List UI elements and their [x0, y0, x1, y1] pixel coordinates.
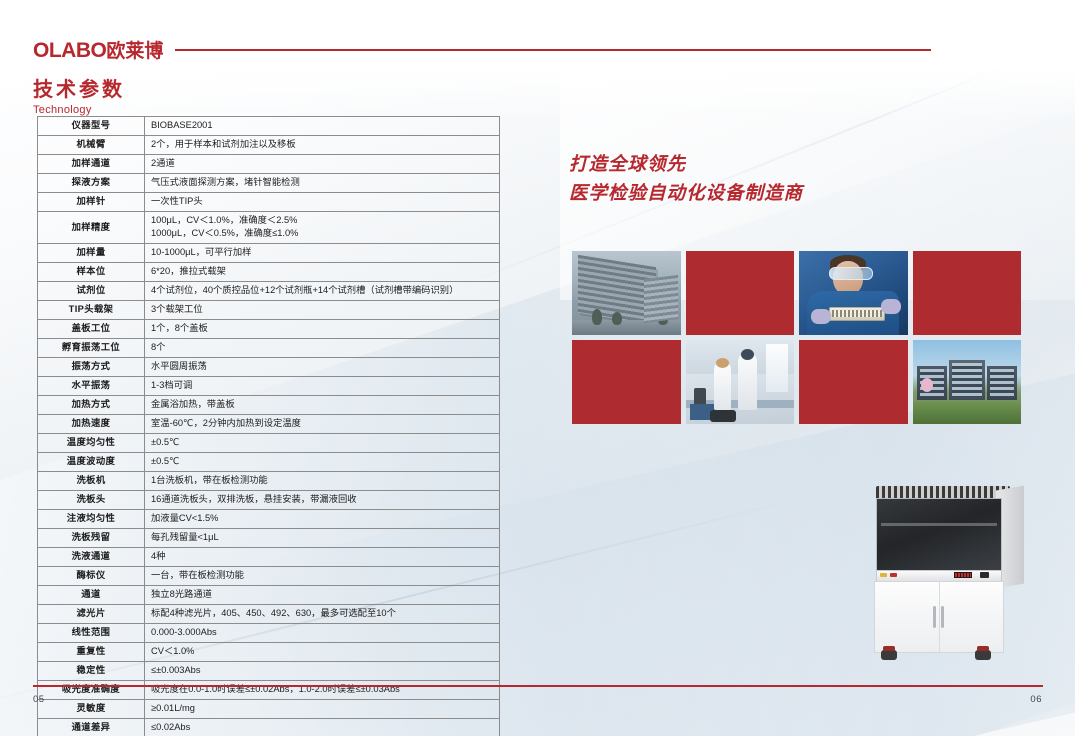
spec-row-label: 样本位 [38, 262, 145, 281]
spec-row-label: 加样通道 [38, 155, 145, 174]
logo-latin-text: OLABO [33, 39, 106, 62]
spec-row: 加样精度100μL，CV＜1.0%，准确度＜2.5%1000μL，CV＜0.5%… [38, 212, 500, 244]
door-handle-right [941, 606, 944, 628]
spec-row: 稳定性≤±0.003Abs [38, 661, 500, 680]
spec-row-value: 标配4种滤光片，405、450、492、630，最多可选配至10个 [145, 604, 500, 623]
spec-row: 温度均匀性±0.5℃ [38, 433, 500, 452]
spec-row-value: 一台，带在板检测功能 [145, 566, 500, 585]
spec-row: 机械臂2个，用于样本和试剂加注以及移板 [38, 136, 500, 155]
spec-value-line: 室温-60℃，2分钟内加热到设定温度 [151, 417, 499, 430]
brand-header: OLABO欧莱博 [33, 36, 1043, 63]
spec-row-label: 加样精度 [38, 212, 145, 244]
spec-row-value: 1个，8个盖板 [145, 319, 500, 338]
spec-value-line: 1-3档可调 [151, 379, 499, 392]
tree-icon [612, 312, 622, 325]
spec-value-line: ±0.5℃ [151, 455, 499, 468]
spec-row: 洗板头16通道洗板头，双排洗板，悬挂安装，带漏液回收 [38, 490, 500, 509]
spec-row-label: 重复性 [38, 642, 145, 661]
spec-row: 加样通道2通道 [38, 155, 500, 174]
spec-row-value: 吸光度在0.0-1.0时误差≤±0.02Abs，1.0-2.0时误差≤±0.03… [145, 680, 500, 699]
spec-value-line: 2通道 [151, 157, 499, 170]
spec-row: 孵育振荡工位8个 [38, 338, 500, 357]
spec-row-value: 加液量CV<1.5% [145, 509, 500, 528]
technician-seated [714, 362, 731, 410]
spec-row-label: 洗板头 [38, 490, 145, 509]
spec-row-label: TIP头载架 [38, 300, 145, 319]
power-switch [980, 572, 989, 578]
spec-row: 加样针一次性TIP头 [38, 193, 500, 212]
headline-line-2: 医学检验自动化设备制造商 [569, 179, 803, 208]
blossom-tree-icon [921, 378, 933, 392]
spec-row-value: 8个 [145, 338, 500, 357]
lab-window [766, 344, 788, 392]
spec-row-value: ±0.5℃ [145, 452, 500, 471]
headline-line-1: 打造全球领先 [569, 150, 803, 179]
spec-value-line: 金属浴加热，带盖板 [151, 398, 499, 411]
spec-row: 洗液通道4种 [38, 547, 500, 566]
spec-row-label: 通道 [38, 585, 145, 604]
indicator-lamp-red [890, 573, 897, 577]
spec-row-value: 每孔残留量<1μL [145, 528, 500, 547]
spec-row-value: 气压式液面探测方案，堵针智能检测 [145, 174, 500, 193]
spec-table: 仪器型号BIOBASE2001机械臂2个，用于样本和试剂加注以及移板加样通道2通… [37, 116, 500, 736]
technician-standing [738, 354, 757, 410]
marketing-headline: 打造全球领先 医学检验自动化设备制造商 [569, 150, 803, 207]
spec-value-line: 3个载架工位 [151, 303, 499, 316]
spec-value-line: 一次性TIP头 [151, 195, 499, 208]
spec-value-line: 1个，8个盖板 [151, 322, 499, 335]
spec-row-label: 加样量 [38, 243, 145, 262]
spec-row-label: 线性范围 [38, 623, 145, 642]
page-subtitle: Technology [33, 104, 125, 116]
spec-row-label: 通道差异 [38, 718, 145, 736]
cabinet-base [874, 581, 1004, 653]
glove-shape [811, 309, 831, 324]
color-block-red-2 [913, 251, 1022, 335]
brochure-page: OLABO欧莱博 技术参数 Technology 仪器型号BIOBASE2001… [0, 0, 1075, 736]
footer-rule [33, 685, 1043, 687]
spec-row-value: 6*20，推拉式载架 [145, 262, 500, 281]
spec-row: 探液方案气压式液面探测方案，堵针智能检测 [38, 174, 500, 193]
spec-row-label: 盖板工位 [38, 319, 145, 338]
photo-two-lab-technicians [686, 340, 795, 424]
spec-row-label: 加样针 [38, 193, 145, 212]
tree-icon [592, 309, 602, 325]
technician-head [741, 349, 754, 360]
spec-value-line: 一台，带在板检测功能 [151, 569, 499, 582]
spec-row: 酶标仪一台，带在板检测功能 [38, 566, 500, 585]
campus-center-block [949, 360, 985, 400]
color-block-red-3 [572, 340, 681, 424]
spec-row-label: 振荡方式 [38, 357, 145, 376]
spec-table-container: 仪器型号BIOBASE2001机械臂2个，用于样本和试剂加注以及移板加样通道2通… [37, 116, 500, 736]
spec-row-value: 2个，用于样本和试剂加注以及移板 [145, 136, 500, 155]
spec-row: 样本位6*20，推拉式载架 [38, 262, 500, 281]
caster-wheel [881, 650, 897, 660]
spec-row: 通道独立8光路通道 [38, 585, 500, 604]
spec-row-value: 3个载架工位 [145, 300, 500, 319]
photo-modern-office-building [572, 251, 681, 335]
spec-row-value: 100μL，CV＜1.0%，准确度＜2.5%1000μL，CV＜0.5%，准确度… [145, 212, 500, 244]
spec-row: 盖板工位1个，8个盖板 [38, 319, 500, 338]
spec-row-value: ≤±0.003Abs [145, 661, 500, 680]
spec-row-value: ≥0.01L/mg [145, 699, 500, 718]
spec-row: 吸光度准确度吸光度在0.0-1.0时误差≤±0.02Abs，1.0-2.0时误差… [38, 680, 500, 699]
spec-value-line: ≤0.02Abs [151, 721, 499, 734]
section-title: 技术参数 Technology [33, 78, 125, 116]
spec-value-line: 1台洗板机，带在板检测功能 [151, 474, 499, 487]
spec-row-value: 金属浴加热，带盖板 [145, 395, 500, 414]
spec-row: 洗板机1台洗板机，带在板检测功能 [38, 471, 500, 490]
spec-value-line: ≤±0.003Abs [151, 664, 499, 677]
spec-value-line: BIOBASE2001 [151, 119, 499, 132]
spec-value-line: 2个，用于样本和试剂加注以及移板 [151, 138, 499, 151]
spec-row-value: 16通道洗板头，双排洗板，悬挂安装，带漏液回收 [145, 490, 500, 509]
window-grid [952, 363, 982, 397]
spec-value-line: 气压式液面探测方案，堵针智能检测 [151, 176, 499, 189]
spec-row: 洗板残留每孔残留量<1μL [38, 528, 500, 547]
spec-row-label: 灵敏度 [38, 699, 145, 718]
spec-value-line: ≥0.01L/mg [151, 702, 499, 715]
indicator-lamp-amber [880, 573, 887, 577]
spec-value-line: 独立8光路通道 [151, 588, 499, 601]
color-block-red-1 [686, 251, 795, 335]
spec-row-label: 滤光片 [38, 604, 145, 623]
door-handle-left [933, 606, 936, 628]
spec-row-label: 孵育振荡工位 [38, 338, 145, 357]
glove-shape [881, 299, 901, 314]
olabo-logo: OLABO欧莱博 [33, 36, 163, 63]
spec-value-line: 1000μL，CV＜0.5%，准确度≤1.0% [151, 227, 499, 240]
page-number-left: 05 [33, 694, 45, 705]
spec-row-label: 温度波动度 [38, 452, 145, 471]
spec-row-value: 2通道 [145, 155, 500, 174]
color-block-red-4 [799, 340, 908, 424]
safety-goggles-icon [829, 267, 873, 280]
spec-row-value: 室温-60℃，2分钟内加热到设定温度 [145, 414, 500, 433]
spec-value-line: 水平圆周振荡 [151, 360, 499, 373]
spec-row-label: 吸光度准确度 [38, 680, 145, 699]
spec-row: 滤光片标配4种滤光片，405、450、492、630，最多可选配至10个 [38, 604, 500, 623]
spec-value-line: 每孔残留量<1μL [151, 531, 499, 544]
logo-chinese-text: 欧莱博 [106, 41, 163, 62]
spec-row: 线性范围0.000-3.000Abs [38, 623, 500, 642]
product-photo-automated-elisa-workstation-cabinet [858, 478, 1058, 674]
spec-row: 加热方式金属浴加热，带盖板 [38, 395, 500, 414]
spec-value-line: 16通道洗板头，双排洗板，悬挂安装，带漏液回收 [151, 493, 499, 506]
spec-row-value: ±0.5℃ [145, 433, 500, 452]
spec-row-label: 洗液通道 [38, 547, 145, 566]
microscope-icon [694, 388, 706, 404]
spec-row-value: 10-1000μL，可平行加样 [145, 243, 500, 262]
photo-scientist-with-pipette-tips [799, 251, 908, 335]
spec-row-value: 一次性TIP头 [145, 193, 500, 212]
spec-value-line: 6*20，推拉式载架 [151, 265, 499, 278]
spec-row-label: 探液方案 [38, 174, 145, 193]
window-grid [990, 369, 1014, 397]
spec-row: 通道差异≤0.02Abs [38, 718, 500, 736]
spec-row-value: CV＜1.0% [145, 642, 500, 661]
page-number-right: 06 [1030, 694, 1042, 705]
spec-value-line: 标配4种滤光片，405、450、492、630，最多可选配至10个 [151, 607, 499, 620]
photo-grid [572, 251, 1030, 424]
cabinet-door-left [875, 582, 940, 652]
spec-row-value: BIOBASE2001 [145, 117, 500, 136]
lab-chair [710, 410, 736, 422]
photo-campus-headquarters-building [913, 340, 1022, 424]
spec-row-label: 稳定性 [38, 661, 145, 680]
spec-row-label: 酶标仪 [38, 566, 145, 585]
spec-row: 仪器型号BIOBASE2001 [38, 117, 500, 136]
spec-row-value: 1台洗板机，带在板检测功能 [145, 471, 500, 490]
spec-row-label: 试剂位 [38, 281, 145, 300]
spec-row-value: 4种 [145, 547, 500, 566]
spec-row-value: ≤0.02Abs [145, 718, 500, 736]
spec-row-value: 独立8光路通道 [145, 585, 500, 604]
spec-row: 加热速度室温-60℃，2分钟内加热到设定温度 [38, 414, 500, 433]
spec-row-label: 洗板机 [38, 471, 145, 490]
spec-row: 重复性CV＜1.0% [38, 642, 500, 661]
spec-row-value: 4个试剂位，40个质控品位+12个试剂瓶+14个试剂槽（试剂槽带编码识别） [145, 281, 500, 300]
spec-row-label: 水平振荡 [38, 376, 145, 395]
spec-value-line: 加液量CV<1.5% [151, 512, 499, 525]
spec-value-line: 10-1000μL，可平行加样 [151, 246, 499, 259]
spec-row: TIP头载架3个载架工位 [38, 300, 500, 319]
pipette-tip-rack [829, 307, 885, 321]
glass-sash-window [876, 498, 1002, 572]
spec-row: 注液均匀性加液量CV<1.5% [38, 509, 500, 528]
spec-row-label: 机械臂 [38, 136, 145, 155]
spec-row: 灵敏度≥0.01L/mg [38, 699, 500, 718]
spec-value-line: 100μL，CV＜1.0%，准确度＜2.5% [151, 214, 499, 227]
technician-head [716, 358, 729, 368]
spec-row-value: 0.000-3.000Abs [145, 623, 500, 642]
lawn [913, 402, 1022, 424]
spec-row-label: 加热方式 [38, 395, 145, 414]
spec-row-label: 仪器型号 [38, 117, 145, 136]
spec-row-value: 1-3档可调 [145, 376, 500, 395]
caster-wheel [975, 650, 991, 660]
spec-value-line: ±0.5℃ [151, 436, 499, 449]
spec-row-value: 水平圆周振荡 [145, 357, 500, 376]
campus-wing-right [987, 366, 1017, 400]
spec-value-line: 0.000-3.000Abs [151, 626, 499, 639]
page-title: 技术参数 [33, 78, 125, 103]
spec-value-line: CV＜1.0% [151, 645, 499, 658]
header-rule [175, 49, 931, 51]
spec-row: 温度波动度±0.5℃ [38, 452, 500, 471]
spec-value-line: 4种 [151, 550, 499, 563]
tree-icon [658, 313, 668, 325]
spec-row-label: 注液均匀性 [38, 509, 145, 528]
spec-row-label: 加热速度 [38, 414, 145, 433]
spec-row-label: 洗板残留 [38, 528, 145, 547]
digital-display [954, 572, 972, 578]
spec-row: 水平振荡1-3档可调 [38, 376, 500, 395]
spec-row: 振荡方式水平圆周振荡 [38, 357, 500, 376]
spec-value-line: 8个 [151, 341, 499, 354]
spec-value-line: 4个试剂位，40个质控品位+12个试剂瓶+14个试剂槽（试剂槽带编码识别） [151, 284, 499, 297]
spec-row: 试剂位4个试剂位，40个质控品位+12个试剂瓶+14个试剂槽（试剂槽带编码识别） [38, 281, 500, 300]
spec-row: 加样量10-1000μL，可平行加样 [38, 243, 500, 262]
spec-row-label: 温度均匀性 [38, 433, 145, 452]
